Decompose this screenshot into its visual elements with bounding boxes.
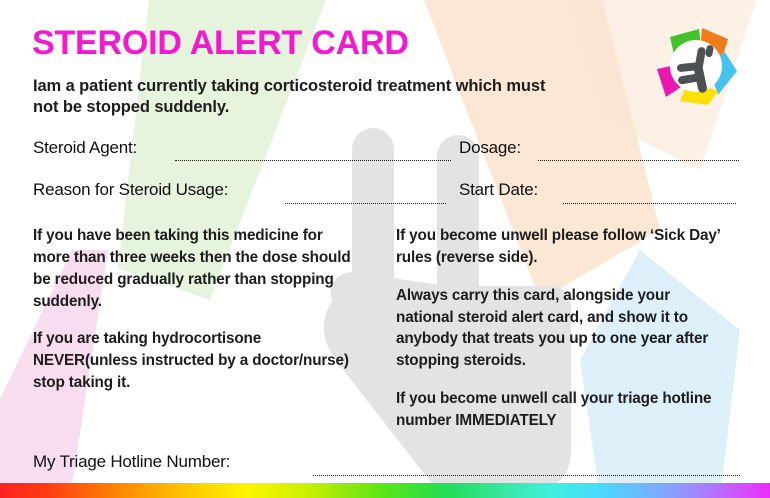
dosage-input[interactable] (538, 160, 739, 161)
steroid-agent-input[interactable] (175, 160, 451, 161)
start-date-input[interactable] (563, 203, 736, 204)
advice-column-left: If you have been taking this medicine fo… (33, 225, 363, 394)
steroid-alert-card: STEROID ALERT CARD Iam a patient current… (0, 0, 770, 498)
steroid-agent-label: Steroid Agent: (33, 138, 137, 158)
advice-paragraph: Always carry this card, alongside your n… (396, 285, 721, 372)
advice-paragraph: If you have been taking this medicine fo… (33, 225, 363, 312)
advice-column-right: If you become unwell please follow ‘Sick… (396, 225, 721, 432)
rainbow-footer-bar (0, 483, 770, 498)
advice-paragraph: If you are taking hydrocortisone NEVER(u… (33, 328, 363, 394)
reason-for-steroid-usage-label: Reason for Steroid Usage: (33, 180, 228, 200)
intro-statement: Iam a patient currently taking corticost… (33, 76, 553, 118)
start-date-label: Start Date: (459, 180, 538, 200)
triage-hotline-label: My Triage Hotline Number: (33, 452, 230, 472)
reason-for-steroid-usage-input[interactable] (285, 203, 446, 204)
triage-hotline-input[interactable] (313, 475, 740, 476)
advice-paragraph: If you become unwell please follow ‘Sick… (396, 225, 721, 269)
dosage-label: Dosage: (459, 138, 521, 158)
advice-paragraph: If you become unwell call your triage ho… (396, 388, 721, 432)
charity-pinwheel-logo-icon (652, 25, 742, 109)
page-title: STEROID ALERT CARD (32, 26, 409, 60)
